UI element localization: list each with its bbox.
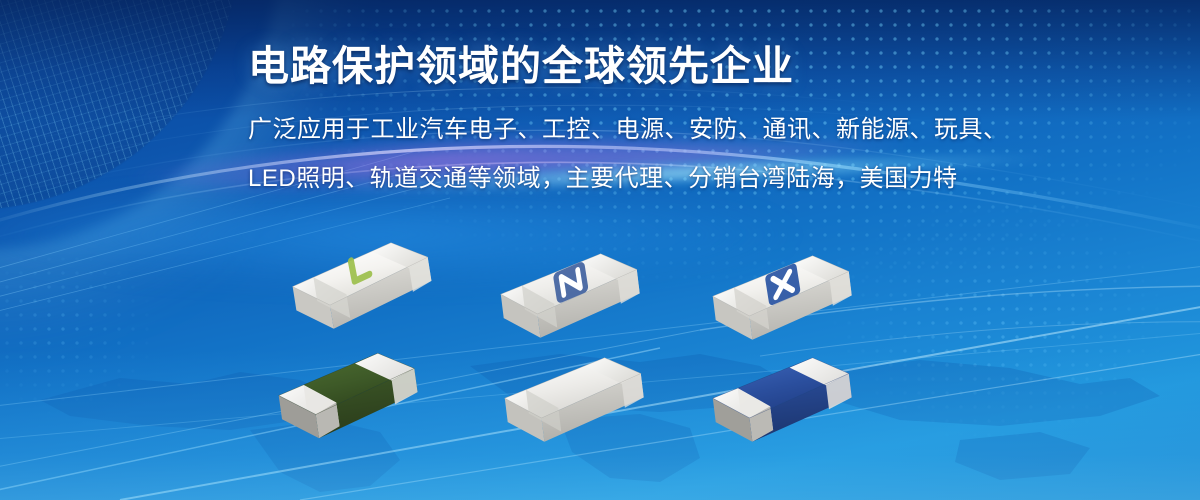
product-chip-fuse-l: [279, 231, 442, 349]
product-showcase: [0, 0, 1200, 500]
product-chip-fuse-blue: [701, 347, 862, 461]
product-chip-fuse-n: [489, 243, 650, 357]
product-chip-fuse-blank: [493, 347, 654, 461]
product-chip-fuse-x: [701, 245, 862, 359]
hero-banner: 电路保护领域的全球领先企业 广泛应用于工业汽车电子、工控、电源、安防、通讯、新能…: [0, 0, 1200, 500]
product-chip-fuse-green: [266, 342, 428, 458]
